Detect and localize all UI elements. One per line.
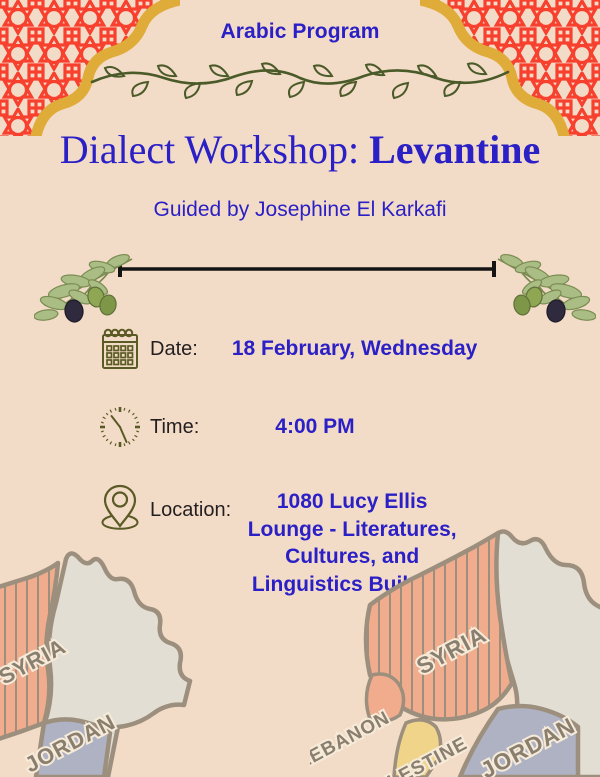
time-value: 4:00 PM [275,415,354,439]
title-highlight: Levantine [369,127,540,172]
clock-icon [96,403,144,451]
olive-branch-icon-right [492,253,596,337]
map-region-jordan [460,706,578,777]
detail-row-time: Time: 4:00 PM [96,403,355,451]
vine-leaf-divider-icon [88,52,512,100]
detail-row-date: Date: 18 February, Wednesday [96,325,477,373]
date-value: 18 February, Wednesday [232,337,478,361]
capped-horizontal-rule [118,259,496,279]
detail-row-location: Location: 1080 Lucy Ellis Lounge - Liter… [96,482,463,599]
title-lead: Dialect Workshop: [60,127,359,172]
location-pin-icon [96,482,144,530]
poster-canvas: Arabic Program Dialect Workshop: Levanti… [0,0,600,777]
map-region-land [494,531,600,777]
map-label-syria: SYRIA [412,621,491,679]
page-title: Dialect Workshop: Levantine [0,129,600,171]
date-label: Date: [150,338,198,361]
location-label: Location: [150,499,231,522]
program-title: Arabic Program [0,20,600,44]
map-label-jordan: JORDAN [476,712,579,777]
subtitle-presenter: Guided by Josephine El Karkafi [0,198,600,222]
calendar-icon [96,325,144,373]
time-label: Time: [150,416,199,439]
map-region-syria [0,563,58,753]
map-region-jordan [36,719,110,777]
map-label-jordan: JORDAN [21,709,120,777]
map-region-palestine [394,720,441,777]
map-label-palestine: PALESTINE [360,733,471,777]
map-region-lebanon [366,674,403,721]
map-label-syria: SYRIA [0,633,70,689]
location-value: 1080 Lucy Ellis Lounge - Literatures, Cu… [241,488,463,599]
map-label-lebanon: LEBANON [310,707,393,773]
